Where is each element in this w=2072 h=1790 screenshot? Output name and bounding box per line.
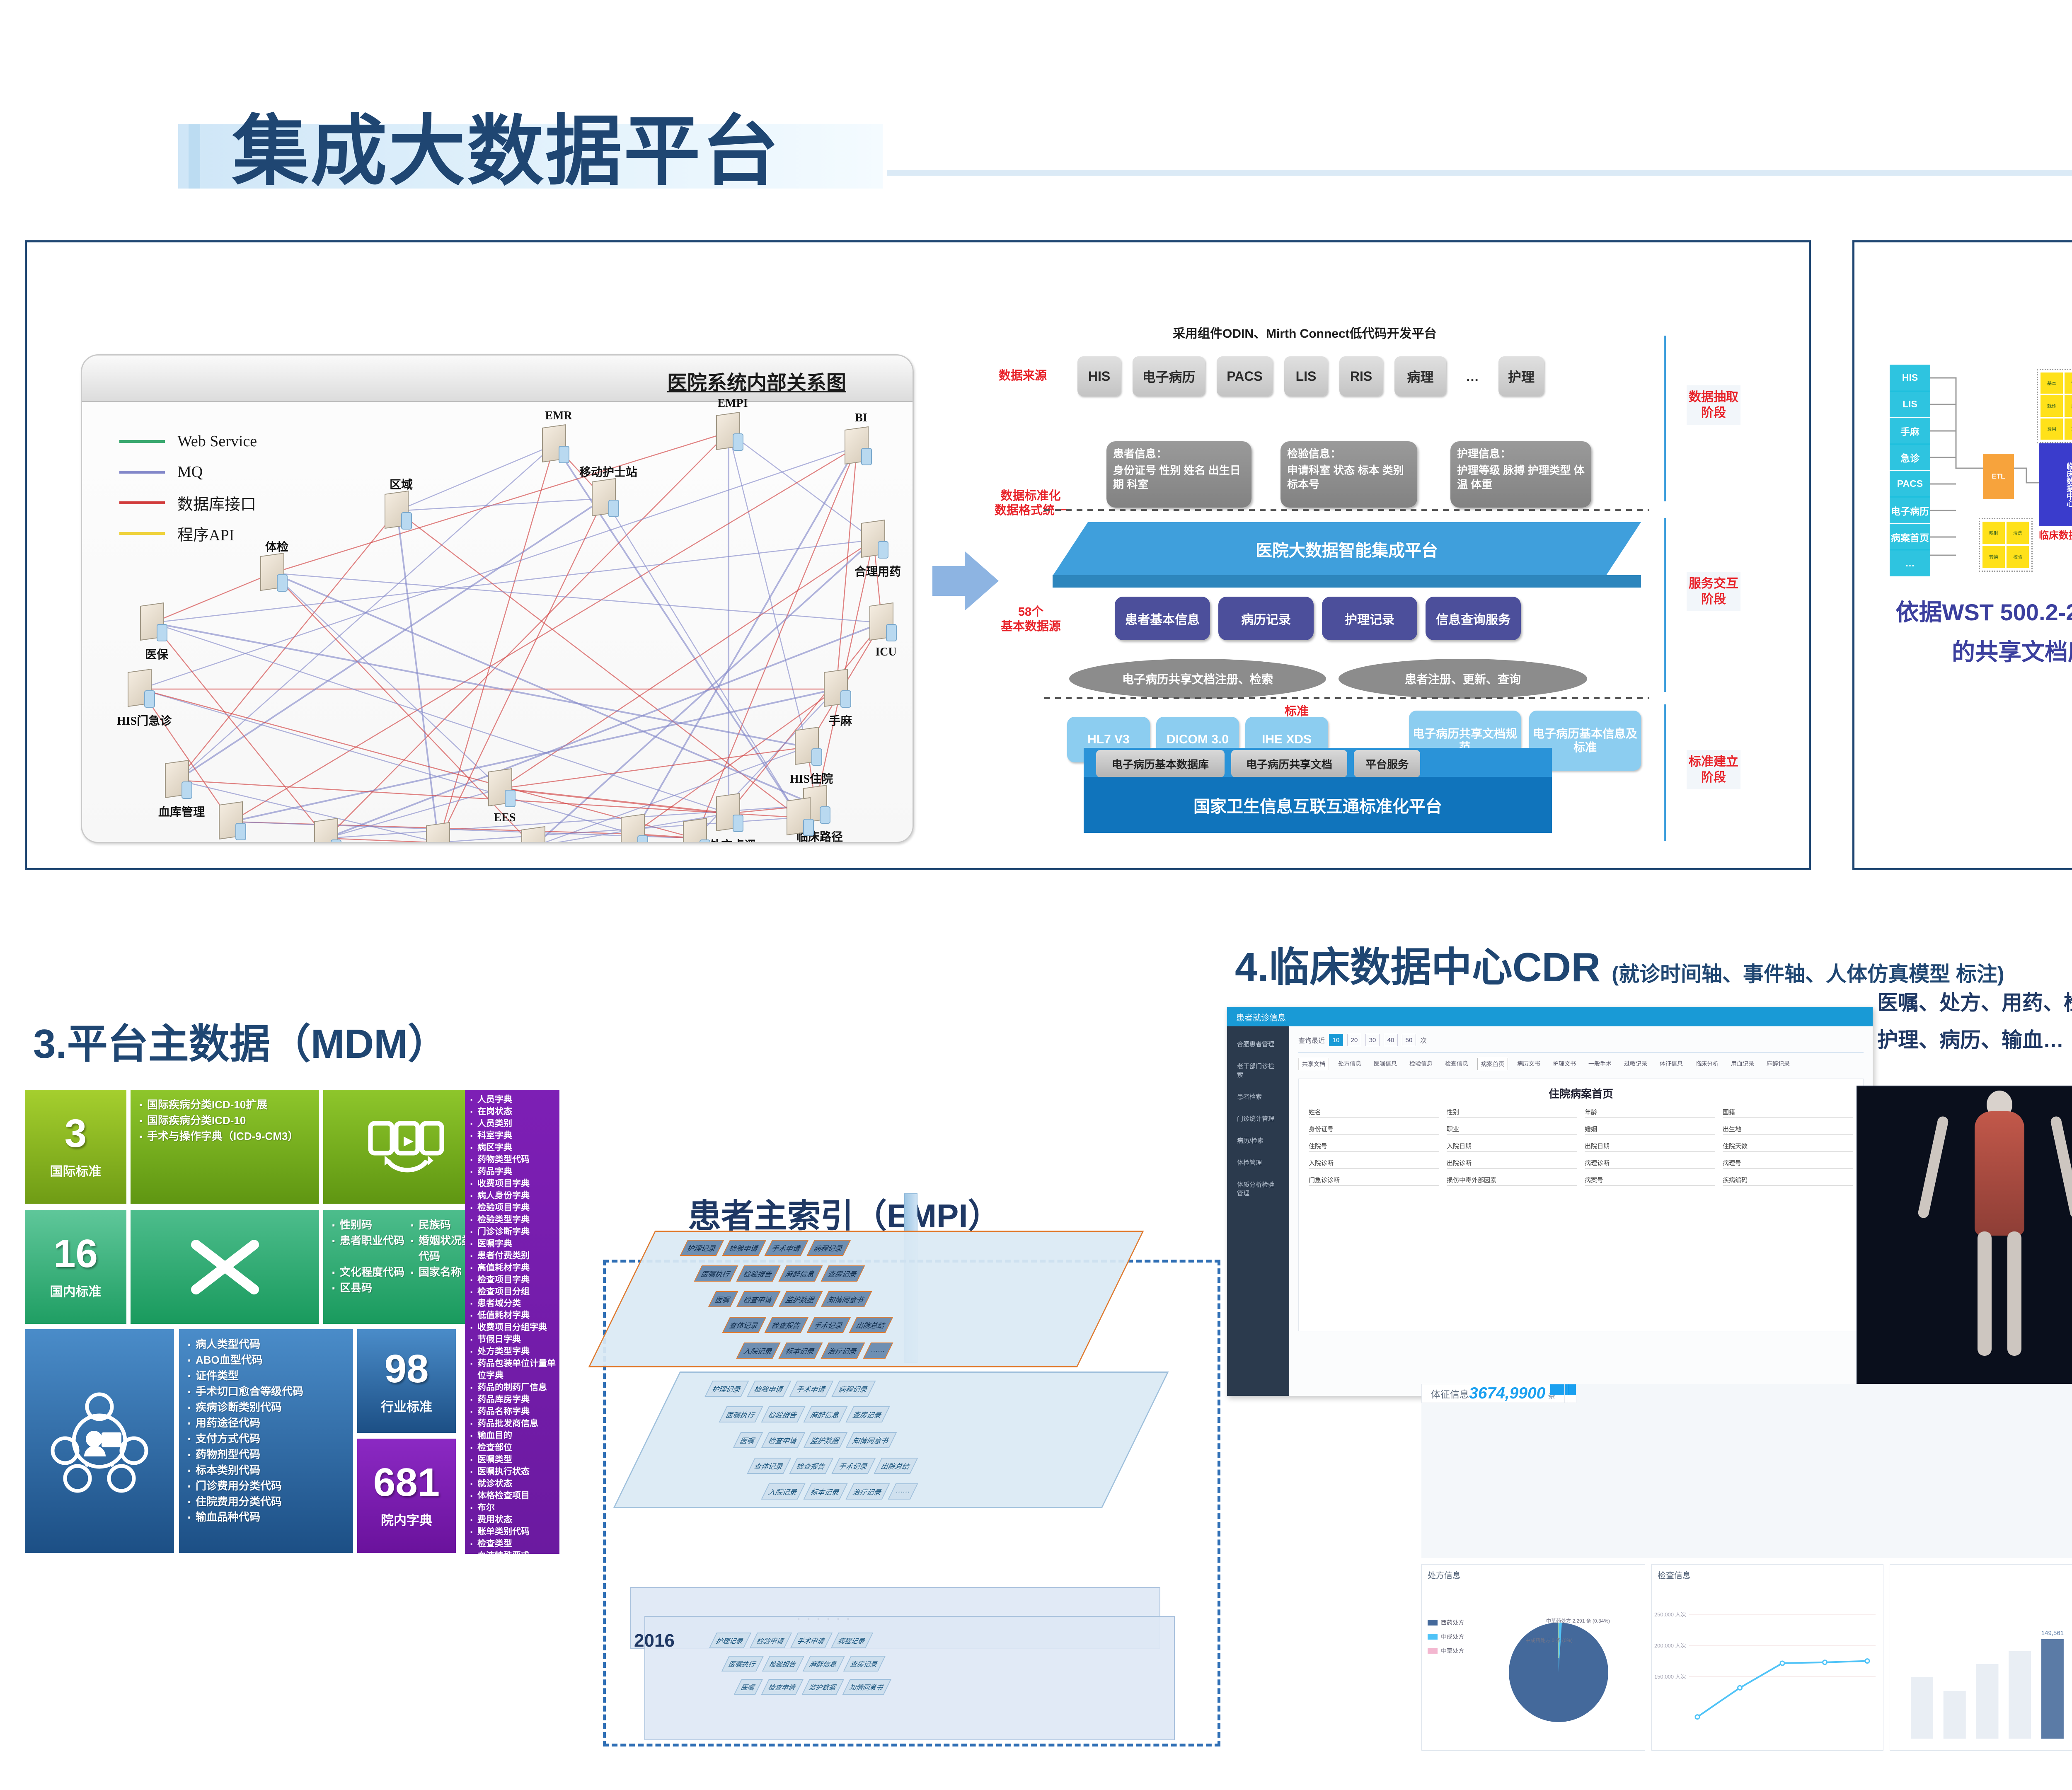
disk-icon — [733, 433, 743, 451]
network-node[interactable]: HIS门急诊 — [128, 670, 158, 710]
dfd-divider-1 — [1044, 509, 1649, 511]
network-node[interactable]: EMPI — [716, 414, 747, 453]
mdm-dict-item: ·检查项目字典 — [468, 1274, 556, 1286]
mdm-dict-item: ·检查部位 — [468, 1442, 556, 1454]
empi-chip-row: 入院记录标本记录治疗记录…… — [761, 1483, 918, 1500]
empi-chip[interactable]: 知情同意书 — [845, 1432, 897, 1448]
empi-bottom-chip[interactable]: 手术申请 — [790, 1633, 833, 1648]
mdm-industry-icon-tile — [25, 1329, 174, 1553]
mdm-dict-item: ·检验项目字典 — [468, 1202, 556, 1214]
pie-legend-label: 西药处方 — [1441, 1618, 1464, 1627]
disk-icon — [840, 690, 851, 708]
cdr-record-sheet: 住院病案首页 姓名性别年龄国籍身份证号职业婚姻出生地住院号入院日期出院日期住院天… — [1298, 1079, 1864, 1331]
cdr-form-field[interactable]: 入院诊断 — [1309, 1159, 1439, 1169]
mdm-dict-item: ·患者域分类 — [468, 1298, 556, 1310]
disk-icon — [277, 574, 288, 592]
network-edge — [501, 789, 729, 813]
line-ytick: 250,000 人次 — [1654, 1611, 1686, 1618]
cdr-form-field[interactable]: 职业 — [1447, 1125, 1577, 1135]
cdr-nav-item-3[interactable]: 门诊统计管理 — [1232, 1108, 1284, 1130]
mdm-industry-item: 门诊费用分类代码 — [185, 1478, 347, 1494]
dfd-bottom-tab-2[interactable]: 平台服务 — [1354, 750, 1420, 777]
empi-chip[interactable]: 监护数据 — [778, 1291, 823, 1307]
network-edge — [397, 498, 604, 511]
line-ytick: 150,000 人次 — [1654, 1674, 1686, 1680]
dfd-grey-box-2: 护理信息：护理等级 脉搏 护理类型 体温 体重 — [1450, 441, 1591, 508]
empi-chip[interactable]: 护理记录 — [680, 1240, 724, 1256]
mdm-dict-item: ·检查类型 — [468, 1538, 556, 1550]
filter-option-20[interactable]: 20 — [1347, 1034, 1361, 1046]
pie-legend-row: 中成处方 — [1428, 1633, 1464, 1641]
network-node[interactable]: 合理用药 — [861, 521, 892, 561]
network-edge — [273, 432, 729, 573]
empi-chip[interactable]: 检查报告 — [789, 1458, 833, 1474]
empi-chip[interactable]: 手术记录 — [806, 1317, 851, 1333]
disk-icon — [861, 448, 872, 465]
mdm-dict-item: ·药品字典 — [468, 1166, 556, 1178]
mdm-dict-item: ·药品包装单位计量单位字典 — [468, 1358, 556, 1382]
slide-header: 集成大数据平台 — [0, 41, 2072, 199]
dfd-stage-2: 标准建立 阶段 — [1687, 750, 1740, 789]
empi-chip[interactable]: 知情同意书 — [821, 1291, 872, 1307]
pie-legend-swatch — [1428, 1620, 1438, 1626]
empi-year-label: 2016 — [634, 1630, 675, 1651]
mdm-industry-item: ABO血型代码 — [185, 1352, 347, 1368]
bar-0 — [1911, 1677, 1933, 1739]
cdr-form-field[interactable]: 病理号 — [1723, 1159, 1853, 1169]
mdm-dict-item: ·药品的制药厂信息 — [468, 1382, 556, 1394]
dfd-source-0[interactable]: HIS — [1077, 356, 1121, 396]
mdm-domestic-item: 文化程度代码 — [329, 1265, 404, 1280]
cdr-form-row-4: 门急诊诊断损伤中毒外部因素病案号疾病编码 — [1309, 1176, 1853, 1186]
data-flow-diagram: 采用组件ODIN、Mirth Connect低代码开发平台 数据来源 数据标准化… — [995, 340, 1782, 845]
empi-bottom-chip[interactable]: 麻醉信息 — [803, 1656, 845, 1671]
body-arm-right — [2050, 1115, 2072, 1219]
mdm-dict-item: ·药品库房字典 — [468, 1394, 556, 1406]
filter-option-30[interactable]: 30 — [1365, 1034, 1380, 1046]
disk-icon — [820, 806, 830, 824]
server-icon — [426, 822, 450, 843]
disk-icon — [637, 835, 648, 843]
dfd-bottom-tab-0[interactable]: 电子病历基本数据库 — [1096, 750, 1225, 777]
mdm-dict-item: ·人员字典 — [468, 1094, 556, 1106]
disk-icon — [886, 624, 897, 641]
network-node[interactable]: 区域 — [385, 492, 415, 532]
dfd-source-4[interactable]: RIS — [1339, 356, 1383, 396]
disk-icon — [235, 823, 246, 840]
cdr-sheet-title: 住院病案首页 — [1309, 1086, 1853, 1101]
network-node[interactable]: 处方点评 — [716, 795, 747, 835]
cdr-nav-item-0[interactable]: 合肥患者管理 — [1232, 1033, 1284, 1055]
mdm-dict-item: ·血液特殊要求 — [468, 1550, 556, 1554]
disk-icon — [505, 790, 516, 807]
empi-bottom-chip[interactable]: 监护数据 — [802, 1679, 845, 1695]
empi-chip[interactable]: 检验申请 — [747, 1381, 791, 1397]
mdm-dict-item: ·在岗状态 — [468, 1106, 556, 1118]
dfd-grey-body: 护理等级 脉搏 护理类型 体温 体重 — [1457, 464, 1585, 492]
dfd-axis-1 — [1664, 336, 1666, 501]
empi-chip[interactable]: 检验申请 — [722, 1240, 766, 1256]
dfd-stage-0: 数据抽取 阶段 — [1687, 385, 1740, 425]
network-node-label: HIS门急诊 — [103, 712, 186, 728]
line-ytick: 200,000 人次 — [1654, 1642, 1686, 1649]
dfd-grey-title: 患者信息： — [1113, 447, 1245, 461]
empi-chip-row: 查体记录检查报告手术记录出院总结 — [722, 1317, 893, 1333]
hospital-network-diagram: 医院系统内部关系图 Web ServiceMQ数据库接口程序API EMREMP… — [81, 354, 914, 843]
mdm-dict-item: ·药物类型代码 — [468, 1154, 556, 1166]
visits-bar-chart: 149,561 — [1890, 1627, 2072, 1751]
empi-layer-1: 护理记录检验申请手术申请病程记录医嘱执行检验报告麻醉信息查房记录医嘱检查申请监护… — [646, 1372, 1135, 1508]
cdr-left-nav[interactable]: 合肥患者管理老干部门诊检索患者检索门诊统计管理病历/检索体检管理体质分析检验管理 — [1227, 1026, 1289, 1396]
cdr-form-field[interactable]: 疾病编码 — [1723, 1176, 1853, 1186]
mdm-industry-item: 手术切口愈合等级代码 — [185, 1384, 347, 1400]
mdm-industry-item: 病人类型代码 — [185, 1337, 347, 1352]
empi-chip[interactable]: 查体记录 — [722, 1317, 766, 1333]
mdm-dict-item: ·病区字典 — [468, 1142, 556, 1154]
dfd-service-2[interactable]: 护理记录 — [1322, 597, 1417, 640]
page-title: 集成大数据平台 — [232, 89, 780, 200]
cda-cdc-caption: 临床数据中心 — [2039, 527, 2072, 542]
empi-chip[interactable]: 医嘱执行 — [694, 1265, 738, 1282]
empi-chip-row: 医嘱执行检验报告麻醉信息查房记录 — [719, 1406, 890, 1422]
network-node-label: 区域 — [360, 476, 443, 492]
mdm-tile-domestic: 16 国内标准 — [25, 1210, 126, 1324]
dfd-grey-box-1: 检验信息：申请科室 状态 标本 类别 标本号 — [1280, 441, 1417, 508]
empi-bottom-chip[interactable]: 检验报告 — [762, 1656, 805, 1671]
pie-legend-label: 中草处方 — [1441, 1647, 1464, 1655]
dfd-source-3[interactable]: LIS — [1284, 356, 1328, 396]
dfd-stage-1: 服务交互 阶段 — [1687, 572, 1740, 611]
cda-node-1[interactable]: 临床数据中心 — [2039, 443, 2072, 526]
mdm-tile-inhouse-count: 681 院内字典 — [357, 1439, 456, 1553]
section4-line-2: 护理、病历、输血… — [1877, 1023, 2064, 1053]
mdm-dict-item: ·就诊状态 — [468, 1478, 556, 1490]
mdm-international-items: 国际疾病分类ICD-10扩展国际疾病分类ICD-10手术与操作字典（ICD-9-… — [131, 1090, 319, 1204]
pie-legend-swatch — [1428, 1634, 1438, 1640]
dfd-platform-side — [1053, 575, 1641, 588]
mdm-dict-item: ·体格检查项目 — [468, 1490, 556, 1502]
cdr-nav-item-6[interactable]: 体质分析检验管理 — [1232, 1173, 1284, 1204]
mdm-dict-item: ·收费项目字典 — [468, 1178, 556, 1190]
network-node[interactable]: 医保 — [140, 604, 171, 644]
filter-option-10[interactable]: 10 — [1329, 1034, 1343, 1046]
mdm-industry-items: 病人类型代码ABO血型代码证件类型手术切口愈合等级代码疾病诊断类别代码用药途径代… — [179, 1329, 353, 1553]
dfd-grey-box-0: 患者信息：身份证号 性别 姓名 出生日期 科室 — [1106, 441, 1251, 508]
empi-chip[interactable]: 医嘱执行 — [719, 1406, 763, 1422]
line-card-title: 检查信息 — [1652, 1565, 1883, 1585]
disk-icon — [182, 781, 192, 799]
mdm-dict-item: ·科室字典 — [468, 1130, 556, 1142]
mdm-domestic-item: 患者职业代码 — [329, 1233, 404, 1265]
cdr-form-field[interactable]: 国籍 — [1723, 1108, 1853, 1118]
cdr-tab-strip[interactable]: 共享文档 处方信息医嘱信息 检验信息检查信息 病案首页 病历文书护理文书 一般手… — [1298, 1058, 1864, 1070]
body-leg-left — [1978, 1231, 1992, 1356]
mdm-dict-item: ·输血目的 — [468, 1430, 556, 1442]
section3-title: 3.平台主数据（MDM） — [33, 1011, 448, 1070]
network-node-label: LIS形态学 — [762, 840, 845, 843]
cdr-form-field[interactable]: 病理诊断 — [1585, 1159, 1715, 1169]
network-edge — [231, 447, 857, 822]
cdr-form-field[interactable]: 损伤中毒外部因素 — [1447, 1176, 1577, 1186]
mdm-tile-international: 3 国际标准 — [25, 1090, 126, 1204]
mdm-intl-item: 国际疾病分类ICD-10扩展 — [136, 1097, 313, 1113]
mdm-dict-item: ·费用状态 — [468, 1514, 556, 1526]
mdm-industry-item: 证件类型 — [185, 1368, 347, 1384]
disk-icon — [811, 748, 822, 766]
network-node[interactable]: 体检 — [260, 554, 291, 594]
empi-chip[interactable]: 标本记录 — [778, 1342, 823, 1359]
cdr-form-field[interactable]: 门急诊诊断 — [1309, 1176, 1439, 1186]
bar-card-subtitle: 总计 1,656,311 — [1890, 1583, 2072, 1594]
pie-card-title: 处方信息 — [1422, 1565, 1645, 1585]
network-node[interactable]: RIS — [219, 803, 249, 843]
disk-icon — [733, 815, 743, 832]
mdm-dict-item: ·药品名称字典 — [468, 1406, 556, 1418]
empi-chip[interactable]: 检查申请 — [761, 1432, 805, 1448]
mdm-domestic-item: 性别码 — [329, 1217, 404, 1233]
empi-chip[interactable]: 手术申请 — [764, 1240, 808, 1256]
network-node[interactable]: LIS检验 — [426, 824, 457, 843]
empi-chip[interactable]: 手术记录 — [831, 1458, 876, 1474]
dfd-label-standardize: 数据标准化 数据格式统一 — [995, 489, 1067, 518]
cda-node-0[interactable]: ETL — [1983, 454, 2014, 499]
empi-chip-row: 入院记录标本记录治疗记录…… — [736, 1342, 893, 1359]
empi-chip[interactable]: 检验报告 — [761, 1406, 805, 1422]
pie-legend-label: 中成处方 — [1441, 1633, 1464, 1641]
empi-bottom-chip[interactable]: 检查申请 — [761, 1679, 804, 1695]
visits-bar-card: 就诊总人次 总计 1,656,311 149,561 — [1890, 1564, 2072, 1751]
mdm-dict-item: ·处方类型字典 — [468, 1346, 556, 1358]
disk-icon — [803, 819, 814, 836]
mdm-dict-item: ·检查项目分组 — [468, 1286, 556, 1298]
network-node-label: EMPI — [691, 397, 774, 410]
filter-option-40[interactable]: 40 — [1384, 1034, 1398, 1046]
mdm-dict-item: ·病人身份字典 — [468, 1190, 556, 1202]
empi-chip[interactable]: 标本记录 — [803, 1483, 847, 1500]
network-node-label: EMR — [517, 409, 600, 423]
mdm-intl-item: 国际疾病分类ICD-10 — [136, 1113, 313, 1129]
empi-chip[interactable]: 护理记录 — [704, 1381, 749, 1397]
mdm-dict-item: ·布尔 — [468, 1502, 556, 1514]
mdm-domestic-items: 性别码民族码患者职业代码婚姻状况类别代码文化程度代码国家名称区县码 — [323, 1210, 489, 1324]
cdr-form-field[interactable]: 身份证号 — [1309, 1125, 1439, 1135]
network-node[interactable]: EMR — [542, 426, 573, 466]
pie-legend-row: 中草处方 — [1428, 1647, 1464, 1655]
dfd-label-58-sources: 58个 基本数据源 — [1001, 605, 1061, 634]
slide-root: 集成大数据平台 1.医疗服务总线（解决院内业务系统互联互通） 医院系统内部关系图… — [0, 0, 2072, 1790]
network-node-label: HIS住院 — [770, 770, 853, 786]
disk-icon — [878, 541, 888, 559]
dfd-ellipse-0: 电子病历共享文档注册、检索 — [1069, 659, 1326, 699]
dfd-grey-body: 身份证号 性别 姓名 出生日期 科室 — [1113, 464, 1245, 492]
dfd-service-1[interactable]: 病历记录 — [1218, 597, 1314, 640]
bar-3 — [2009, 1651, 2031, 1739]
dfd-source-1[interactable]: 电子病历 — [1133, 356, 1205, 396]
sync-arrows-icon — [365, 1116, 448, 1178]
cda-metadata-group-3: 映射清洗转换校验 — [1979, 518, 2033, 572]
empi-bottom-chip[interactable]: 知情同意书 — [842, 1679, 892, 1695]
empi-chip[interactable]: 治疗记录 — [821, 1342, 865, 1359]
network-node[interactable]: EES — [488, 770, 519, 810]
network-node-label: 体检 — [235, 538, 318, 554]
empi-chip[interactable]: 检查申请 — [736, 1291, 780, 1307]
dfd-bottom-tab-1[interactable]: 电子病历共享文档 — [1231, 750, 1347, 777]
cdr-form-field[interactable]: 出院日期 — [1585, 1142, 1715, 1152]
dfd-service-3[interactable]: 信息查询服务 — [1426, 597, 1521, 640]
network-node[interactable]: LIS形态学 — [787, 799, 817, 839]
cda-flow-diagram: HISLIS手麻急诊PACS电子病历病案首页… ETL临床数据中 — [1890, 365, 2072, 572]
empi-chip-row: 护理记录检验申请手术申请病程记录 — [704, 1381, 876, 1397]
pie-legend-row: 西药处方 — [1428, 1618, 1464, 1627]
dfd-label-source: 数据来源 — [999, 369, 1047, 383]
mdm-dictionary-column: ·人员字典·在岗状态·人员类别·科室字典·病区字典·药物类型代码·药品字典·收费… — [465, 1090, 559, 1554]
cdr-form-field[interactable]: 年龄 — [1585, 1108, 1715, 1118]
empi-chip[interactable]: 查体记录 — [747, 1458, 791, 1474]
cdr-nav-item-5[interactable]: 体检管理 — [1232, 1151, 1284, 1173]
cdr-form-field[interactable]: 出院诊断 — [1447, 1159, 1577, 1169]
network-node[interactable]: LIS微生物 — [314, 820, 345, 843]
network-edge — [729, 432, 807, 747]
network-node[interactable]: 手麻 — [824, 670, 854, 710]
header-rule — [887, 170, 2072, 176]
dfd-source-7[interactable]: 护理 — [1498, 356, 1544, 396]
network-edge — [554, 445, 799, 818]
cdr-nav-item-1[interactable]: 老干部门诊检索 — [1232, 1055, 1284, 1086]
empi-chip[interactable]: 入院记录 — [761, 1483, 805, 1500]
empi-chip[interactable]: 麻醉信息 — [778, 1265, 823, 1282]
network-node-label: BI — [820, 411, 903, 425]
empi-chip[interactable]: 监护数据 — [803, 1432, 847, 1448]
cdr-form-field[interactable]: 住院天数 — [1723, 1142, 1853, 1152]
dfd-platform-bar: 医院大数据智能集成平台 — [1053, 522, 1641, 576]
empi-chip[interactable]: 麻醉信息 — [803, 1406, 847, 1422]
empi-chip[interactable]: 入院记录 — [736, 1342, 780, 1359]
line-series — [1697, 1661, 1867, 1717]
dfd-source-6[interactable]: … — [1458, 356, 1487, 396]
kpi-label: 体征信息 — [1431, 1386, 1469, 1401]
bar-2 — [1976, 1664, 1998, 1739]
mdm-industry-item: 支付方式代码 — [185, 1431, 347, 1447]
mdm-dict-item: ·高值耗材字典 — [468, 1262, 556, 1274]
pie-annotation-2: 中成药处方 0 条 (0%) — [1525, 1637, 1573, 1644]
pie-annotation-1: 中草药处方 2,291 条 (0.34%) — [1546, 1618, 1610, 1625]
header-band-accent — [189, 124, 200, 189]
network-node[interactable]: PI5物理 — [683, 820, 714, 843]
bar-1 — [1944, 1691, 1966, 1739]
network-node[interactable]: UIS — [521, 828, 552, 843]
dfd-source-2[interactable]: PACS — [1217, 356, 1273, 396]
body-torso — [1975, 1111, 2024, 1236]
network-node-label: 手麻 — [799, 712, 882, 728]
cdr-form-field[interactable]: 病案号 — [1585, 1176, 1715, 1186]
empi-chip-row: 医嘱检查申请监护数据知情同意书 — [733, 1432, 897, 1448]
prescription-pie-chart — [1496, 1610, 1633, 1734]
mdm-intl-item: 手术与操作字典（ICD-9-CM3） — [136, 1129, 313, 1144]
mdm-dict-item: ·收费项目分组字典 — [468, 1322, 556, 1334]
cdr-form-field[interactable]: 婚姻 — [1585, 1125, 1715, 1135]
cdr-visit-filter[interactable]: 查询最近 10 20 30 40 50 次 — [1298, 1034, 1864, 1046]
cdr-window-titlebar: 患者就诊信息 — [1227, 1007, 1873, 1026]
kpi-dashboard: 就诊总人次1,656,311人次门诊病历1,541,866份手术麻醉19,300… — [1421, 1384, 2072, 1558]
empi-bottom-chip-row: 护理记录检验申请手术申请病程记录 — [709, 1633, 874, 1648]
body-leg-right — [2007, 1231, 2021, 1356]
bar-4 — [2041, 1639, 2064, 1739]
empi-chip[interactable]: 检查报告 — [764, 1317, 808, 1333]
network-node[interactable]: ICU — [869, 604, 900, 644]
cdr-patient-window[interactable]: 患者就诊信息 合肥患者管理老干部门诊检索患者检索门诊统计管理病历/检索体检管理体… — [1227, 1007, 1873, 1396]
network-node[interactable]: HIS住院 — [795, 728, 825, 768]
network-node[interactable]: BI — [845, 428, 875, 468]
dfd-national-platform: 国家卫生信息互联互通标准化平台 — [1084, 777, 1552, 833]
cdr-form-field[interactable]: 入院日期 — [1447, 1142, 1577, 1152]
mdm-domestic-item: 区县码 — [329, 1280, 404, 1296]
disk-icon — [700, 839, 710, 843]
mdm-dict-item: ·医嘱类型 — [468, 1454, 556, 1466]
mdm-industry-item: 疾病诊断类别代码 — [185, 1400, 347, 1415]
mdm-industry-item: 标本类别代码 — [185, 1463, 347, 1478]
dfd-grey-title: 检验信息： — [1287, 447, 1411, 461]
mdm-dict-item: ·门诊诊断字典 — [468, 1226, 556, 1238]
empi-bottom-chip[interactable]: 护理记录 — [709, 1633, 752, 1648]
network-node-label: ICU — [845, 646, 914, 659]
empi-chip[interactable]: 检验报告 — [736, 1265, 780, 1282]
network-node-label: 合理用药 — [836, 563, 914, 579]
kpi-tag — [1550, 1384, 1564, 1395]
cdr-main-area: 查询最近 10 20 30 40 50 次 共享文档 处方信息医嘱信息 检验信息… — [1289, 1026, 1873, 1396]
cdr-form-field[interactable]: 出生地 — [1723, 1125, 1853, 1135]
empi-bottom-chip-row: 医嘱执行检验报告麻醉信息查房记录 — [721, 1656, 886, 1671]
dfd-axis-2 — [1664, 518, 1666, 692]
pie-legend-swatch — [1428, 1648, 1438, 1654]
dfd-divider-2 — [1044, 697, 1649, 699]
server-icon — [521, 826, 545, 843]
cdr-form-field[interactable]: 姓名 — [1309, 1108, 1439, 1118]
dfd-service-0[interactable]: 患者基本信息 — [1115, 597, 1210, 640]
empi-chip[interactable]: 手术申请 — [789, 1381, 833, 1397]
body-arm-left — [1917, 1115, 1949, 1219]
cdr-nav-item-2[interactable]: 患者检索 — [1232, 1086, 1284, 1108]
cdr-nav-item-4[interactable]: 病历/检索 — [1232, 1130, 1284, 1151]
exam-line-chart: 250,000 人次200,000 人次150,000 人次 — [1652, 1589, 1883, 1747]
mdm-dict-item: ·节假日字典 — [468, 1334, 556, 1346]
mdm-dict-item: ·药品批发商信息 — [468, 1418, 556, 1430]
network-edge — [273, 573, 882, 623]
network-node[interactable]: 移动护士站 — [592, 480, 622, 520]
kpi-value: 3674,9900条 — [1469, 1384, 1555, 1403]
network-edge — [152, 623, 807, 747]
filter-option-50[interactable]: 50 — [1402, 1034, 1416, 1046]
empi-bottom-chip[interactable]: 检验申请 — [750, 1633, 792, 1648]
exam-line-card: 检查信息 250,000 人次200,000 人次150,000 人次 — [1651, 1564, 1883, 1751]
network-node[interactable]: PIS病理 — [621, 815, 651, 843]
empi-layer-0: 护理记录检验申请手术申请病程记录医嘱执行检验报告麻醉信息查房记录医嘱检查申请监护… — [622, 1231, 1111, 1367]
network-node-label: 医保 — [115, 646, 198, 662]
empi-chip[interactable]: 治疗记录 — [845, 1483, 890, 1500]
cda-metadata-group-1: 基本诊断就诊用药费用其他 — [2037, 369, 2072, 443]
empi-bottom-chip[interactable]: 医嘱执行 — [721, 1656, 764, 1671]
mdm-dict-item: ·低值耗材字典 — [468, 1310, 556, 1322]
cdr-form-field[interactable]: 性别 — [1447, 1108, 1577, 1118]
bar-highlight-label: 149,561 — [2041, 1630, 2064, 1637]
network-node[interactable]: 血库管理 — [165, 762, 196, 801]
network-edge — [534, 747, 807, 843]
mdm-industry-item: 用药途径代码 — [185, 1415, 347, 1431]
mdm-dict-item: ·账单类别代码 — [468, 1526, 556, 1538]
dfd-source-5[interactable]: 病理 — [1394, 356, 1446, 396]
mdm-dict-item: ·人员类别 — [468, 1118, 556, 1130]
mdm-shuffle-icon-tile — [131, 1210, 319, 1324]
cdr-form-field[interactable]: 住院号 — [1309, 1142, 1439, 1152]
